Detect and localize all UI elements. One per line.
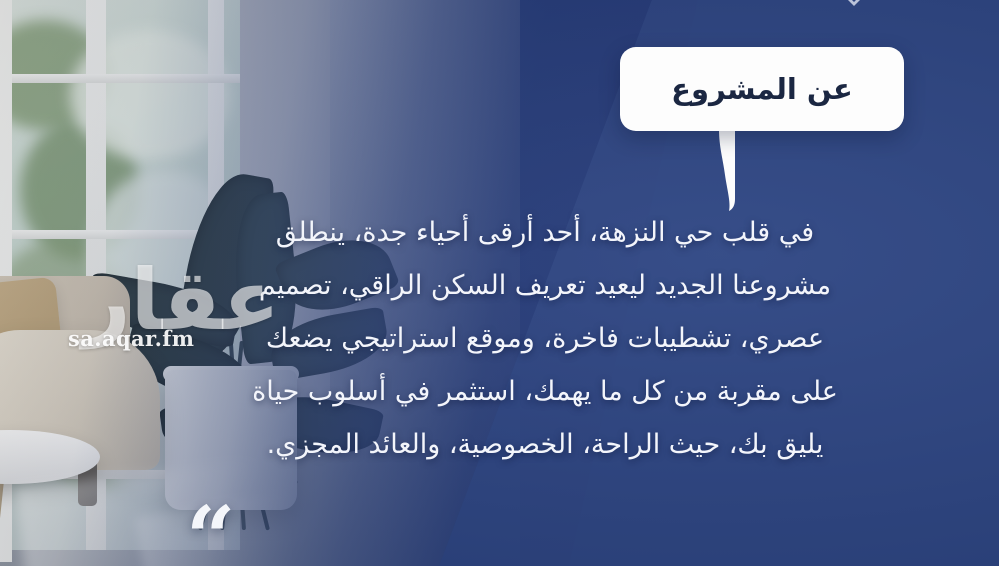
description-paragraph: في قلب حي النزهة، أحد أرقى أحياء جدة، ين… (150, 206, 940, 471)
quote-mark-icon: “ (186, 496, 235, 566)
description-line-3: عصري، تشطيبات فاخرة، وموقع استراتيجي يضع… (150, 312, 940, 365)
project-description: في قلب حي النزهة، أحد أرقى أحياء جدة، ين… (150, 206, 940, 471)
bubble-body: عن المشروع (620, 47, 904, 131)
description-line-1: في قلب حي النزهة، أحد أرقى أحياء جدة، ين… (150, 206, 940, 259)
about-bubble: عن المشروع (620, 47, 904, 131)
pin-logo-icon (838, 0, 870, 12)
promo-card: عن المشروع في قلب حي النزهة، أحد أرقى أح… (0, 0, 999, 566)
description-line-4: على مقربة من كل ما يهمك، استثمر في أسلوب… (150, 365, 940, 418)
description-line-2: مشروعنا الجديد ليعيد تعريف السكن الراقي،… (150, 259, 940, 312)
bubble-tail (719, 129, 753, 211)
bubble-title: عن المشروع (671, 75, 853, 104)
description-line-5: يليق بك، حيث الراحة، الخصوصية، والعائد ا… (150, 418, 940, 471)
